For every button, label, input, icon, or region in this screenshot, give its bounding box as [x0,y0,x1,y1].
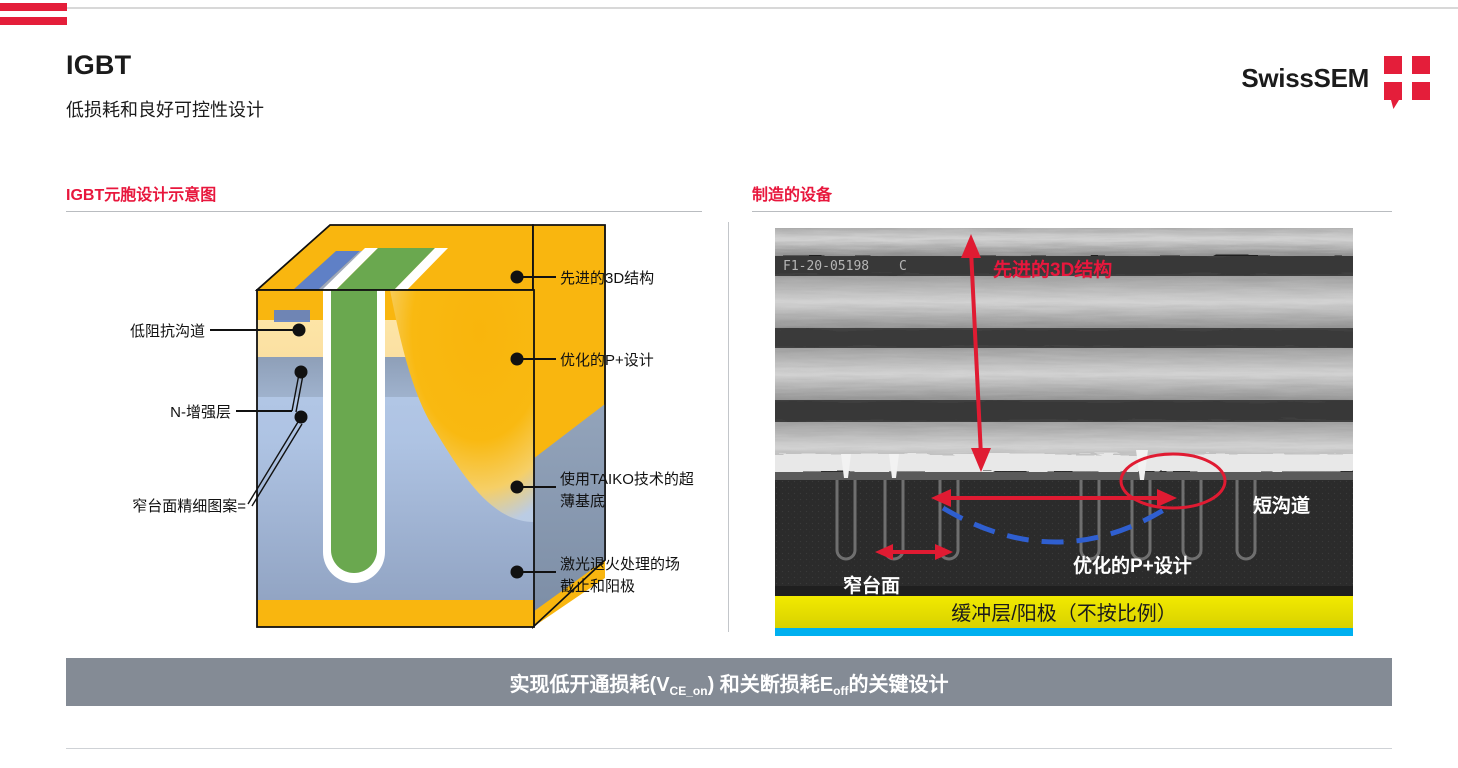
page-subtitle: 低损耗和良好可控性设计 [66,96,264,122]
section-rule-right [752,211,1392,212]
section-header-left: IGBT元胞设计示意图 [66,181,216,205]
logo-wordmark: SwissSEM [1241,63,1369,94]
key-design-banner: 实现低开通损耗(VCE_on) 和关断损耗Eoff的关键设计 [66,658,1392,706]
sem-bottom-strip [775,628,1353,636]
callout-n-enhancement-layer: N-增强层 [170,404,231,421]
banner-sub-1: CE_on [670,684,708,698]
top-red-bar-lower [0,17,67,25]
callout-taiko-thin-substrate-line1: 使用TAIKO技术的超 [560,471,694,488]
callout-taiko-thin-substrate-line2: 薄基底 [560,493,605,510]
sem-annotation-optimized-p-plus: 优化的P+设计 [1073,554,1192,577]
callout-advanced-3d-structure: 先进的3D结构 [560,270,654,287]
page-title: IGBT [66,50,131,81]
key-design-banner-text: 实现低开通损耗(VCE_on) 和关断损耗Eoff的关键设计 [510,668,949,697]
sem-annotation-advanced-3d: 先进的3D结构 [993,258,1112,281]
banner-part-2: ) 和关断损耗E [708,674,834,696]
sem-bottom-band-label: 缓冲层/阳极（不按比例） [951,602,1177,625]
section-header-right: 制造的设备 [752,181,832,205]
sem-photograph: F1-20-05198 C [775,228,1353,636]
sem-watermark-id: F1-20-05198 [783,259,869,274]
igbt-cell-diagram: 低阻抗沟道 N-增强层 窄台面精细图案= 先进的3D结构 优化的P+设计 [60,222,720,642]
section-rule-left [66,211,702,212]
footer-rule [66,748,1392,749]
banner-part-1: 实现低开通损耗(V [510,674,670,696]
banner-sub-2: off [833,684,848,698]
callout-narrow-mesa-fine-pattern: 窄台面精细图案= [132,497,246,515]
logo-squares-icon [1384,56,1430,100]
panel-divider [728,222,729,632]
brand-logo: SwissSEM [1241,56,1430,100]
top-red-bar-upper [0,3,67,11]
sem-watermark-tag: C [899,259,907,274]
callout-laser-anneal-fieldstop-line1: 激光退火处理的场 [560,556,680,573]
callout-low-impedance-channel: 低阻抗沟道 [130,323,205,340]
callout-laser-anneal-fieldstop-line2: 截止和阳极 [560,578,635,595]
slide-root: IGBT 低损耗和良好可控性设计 SwissSEM IGBT元胞设计示意图 制造… [0,0,1458,768]
callout-optimized-p-plus-design: 优化的P+设计 [560,352,654,369]
banner-part-3: 的关键设计 [848,674,948,696]
sem-annotation-short-channel: 短沟道 [1253,494,1310,517]
sem-annotation-narrow-mesa: 窄台面 [843,574,900,597]
top-divider-line [0,7,1458,9]
